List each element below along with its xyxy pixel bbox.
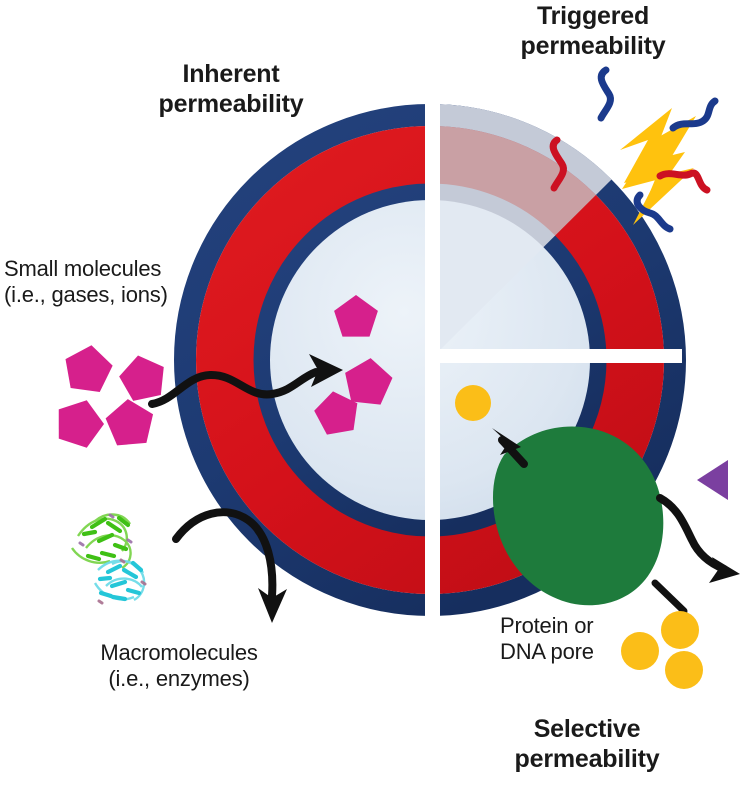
vesicle-lumen xyxy=(270,200,590,520)
squiggle-blue xyxy=(601,70,610,118)
small-molecule-group-inside xyxy=(311,295,394,436)
figure-canvas: Inherent permeability Triggered permeabi… xyxy=(0,0,744,785)
pentagon-molecule xyxy=(50,393,109,451)
inner-navy-leaflet xyxy=(262,192,598,528)
title-triggered-permeability: Triggered permeability xyxy=(468,2,718,61)
arrow-pore-influx xyxy=(492,428,524,464)
red-membrane-core xyxy=(225,155,635,565)
pentagon-molecule xyxy=(311,388,361,437)
arrow-macromolecules-blocked xyxy=(176,512,287,623)
vesicle-membrane xyxy=(185,115,675,605)
pentagon-molecule xyxy=(342,356,394,406)
pentagon-molecule xyxy=(62,342,115,393)
caption-small-molecules: Small molecules (i.e., gases, ions) xyxy=(4,256,234,308)
pentagon-molecule xyxy=(334,295,378,337)
stimulus-squiggle-group xyxy=(553,70,715,229)
caption-macromolecules: Macromolecules (i.e., enzymes) xyxy=(64,640,294,692)
outer-navy-leaflet xyxy=(185,115,675,605)
cargo-circle xyxy=(665,651,703,689)
arrow-small-molecules-in xyxy=(152,354,343,404)
squiggle-blue xyxy=(673,101,715,128)
arrow-pore-efflux xyxy=(655,498,740,611)
caption-protein-dna-pore: Protein or DNA pore xyxy=(500,613,670,665)
squiggle-red xyxy=(553,140,563,188)
pentagon-molecule xyxy=(104,397,155,446)
squiggle-blue xyxy=(637,195,670,229)
excluded-cargo-triangle xyxy=(697,460,728,500)
lightning-bolt-icon xyxy=(620,108,696,225)
small-molecule-group-outside xyxy=(50,342,169,451)
pentagon-molecule xyxy=(116,351,170,403)
disrupted-membrane-wedge xyxy=(185,115,675,605)
title-selective-permeability: Selective permeability xyxy=(462,715,712,774)
quadrant-dividers xyxy=(425,92,682,628)
squiggle-red xyxy=(660,173,707,190)
protein-dna-pore xyxy=(493,426,663,605)
protein-ribbon-structure xyxy=(72,515,145,603)
title-inherent-permeability: Inherent permeability xyxy=(86,60,376,119)
divider-vertical xyxy=(425,92,440,628)
cargo-circle xyxy=(455,385,491,421)
divider-horizontal xyxy=(432,349,682,363)
